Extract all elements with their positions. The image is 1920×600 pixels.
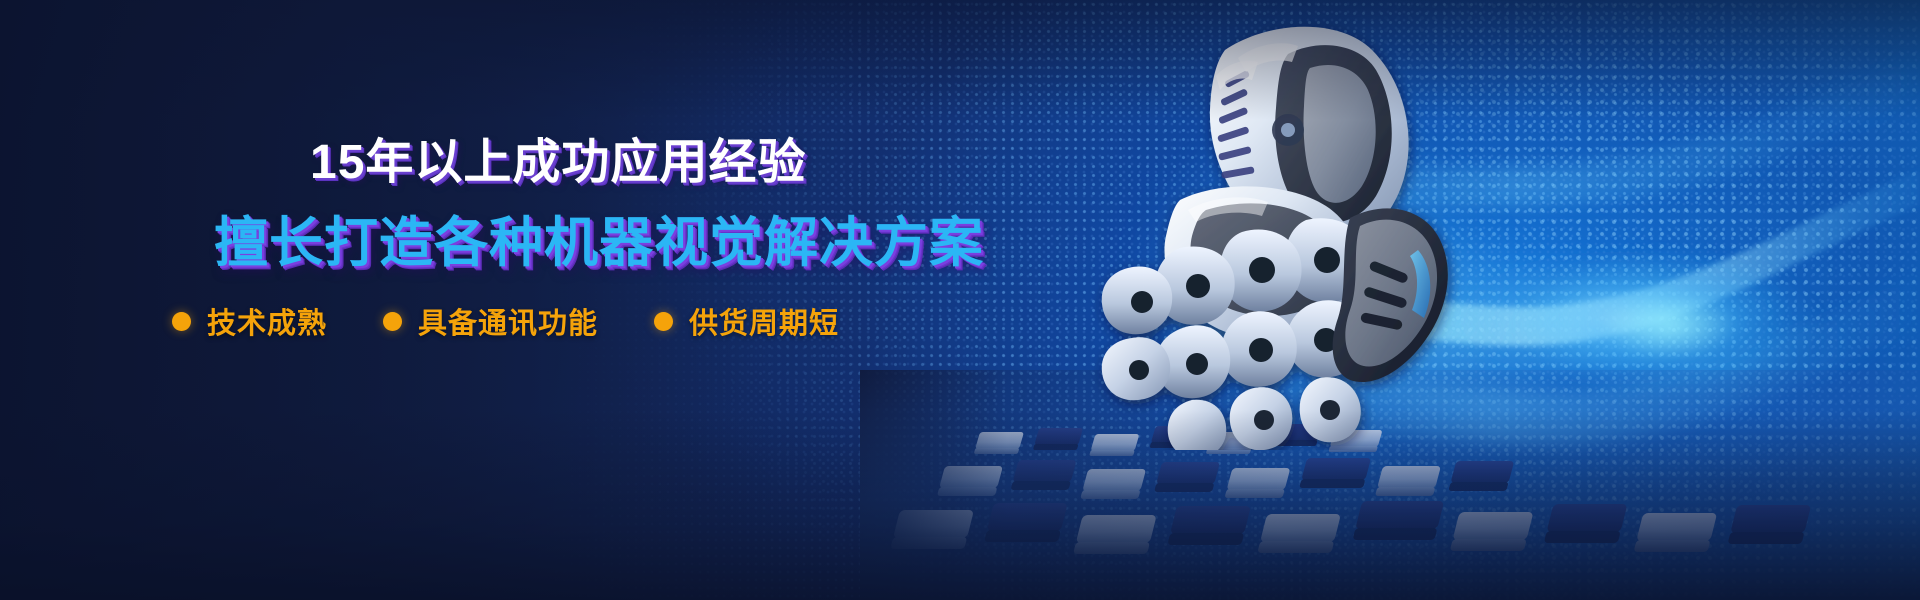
feature-bullet-label-1: 技术成熟 <box>207 300 327 342</box>
feature-bullet-label-3: 供货周期短 <box>689 300 839 342</box>
feature-bullet-item-3: 供货周期短 <box>654 300 839 342</box>
bullet-dot-icon <box>654 312 673 331</box>
feature-bullet-label-2: 具备通讯功能 <box>418 300 598 342</box>
headline-primary: 15年以上成功应用经验 <box>310 122 806 192</box>
feature-bullet-list: 技术成熟 具备通讯功能 供货周期短 <box>172 300 839 342</box>
feature-bullet-item-2: 具备通讯功能 <box>383 300 598 342</box>
banner-content: 15年以上成功应用经验 擅长打造各种机器视觉解决方案 技术成熟 具备通讯功能 供… <box>0 0 980 600</box>
feature-bullet-item-1: 技术成熟 <box>172 300 327 342</box>
bullet-dot-icon <box>172 312 191 331</box>
headline-secondary: 擅长打造各种机器视觉解决方案 <box>214 198 984 277</box>
bullet-dot-icon <box>383 312 402 331</box>
hero-banner: 15年以上成功应用经验 擅长打造各种机器视觉解决方案 技术成熟 具备通讯功能 供… <box>0 0 1920 600</box>
